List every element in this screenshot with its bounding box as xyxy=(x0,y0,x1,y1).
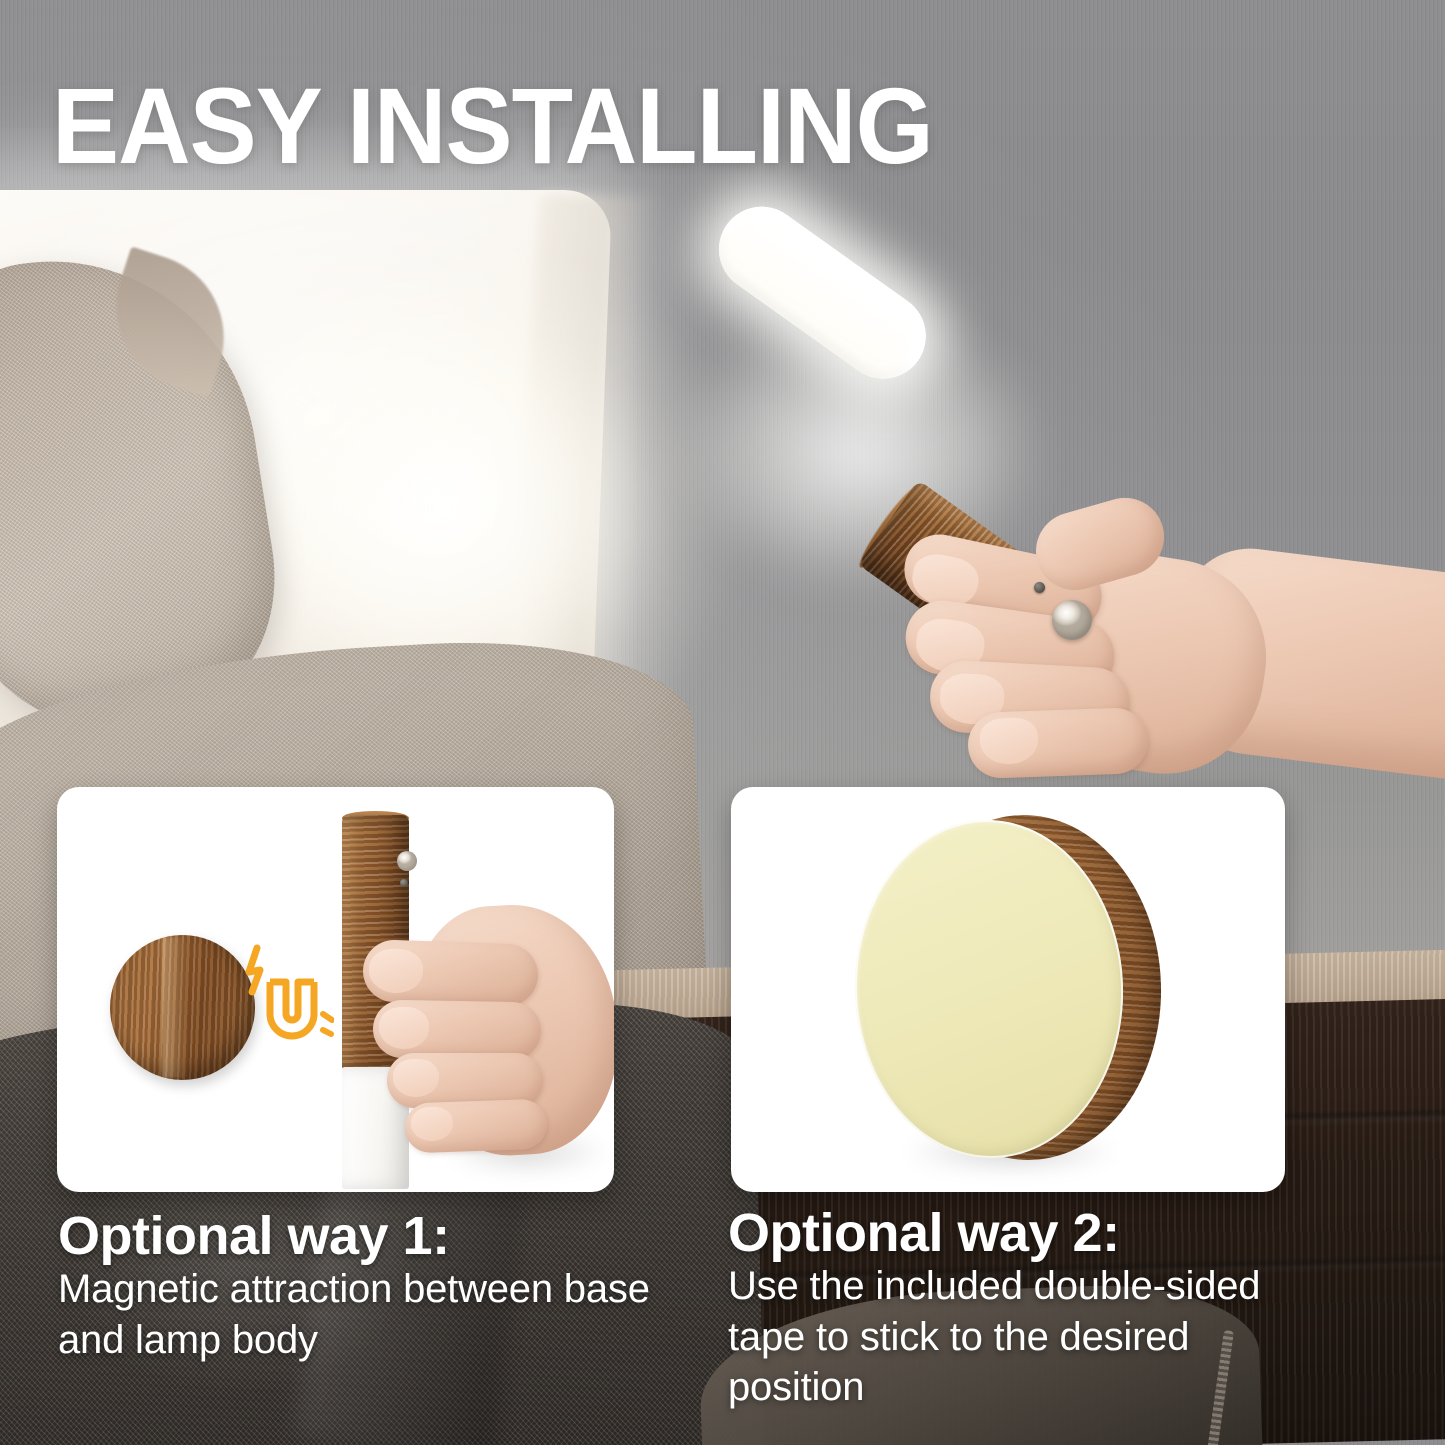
caption-way-2-title: Optional way 2: xyxy=(728,1205,1328,1261)
caption-way-1: Optional way 1: Magnetic attraction betw… xyxy=(58,1208,658,1365)
hand-ring-fingernail xyxy=(393,1059,439,1097)
caption-way-2: Optional way 2: Use the included double-… xyxy=(728,1205,1328,1412)
pir-motion-sensor-icon xyxy=(397,851,417,871)
caption-way-2-body: Use the included double-sided tape to st… xyxy=(728,1261,1328,1412)
caption-way-1-title: Optional way 1: xyxy=(58,1208,658,1264)
led-indicator-icon xyxy=(1034,582,1045,593)
caption-way-1-body: Magnetic attraction between base and lam… xyxy=(58,1264,658,1365)
adhesive-tape-card xyxy=(731,787,1285,1192)
base-puck-grain-stripe xyxy=(162,937,188,1078)
page-title: EASY INSTALLING xyxy=(52,72,933,180)
led-indicator-icon xyxy=(400,879,408,887)
magnetic-mount-card xyxy=(57,787,614,1192)
product-marketing-image: EASY INSTALLING Optiona xyxy=(0,0,1445,1445)
horseshoe-magnet-icon xyxy=(239,942,334,1052)
pir-motion-sensor-icon xyxy=(1052,600,1092,640)
